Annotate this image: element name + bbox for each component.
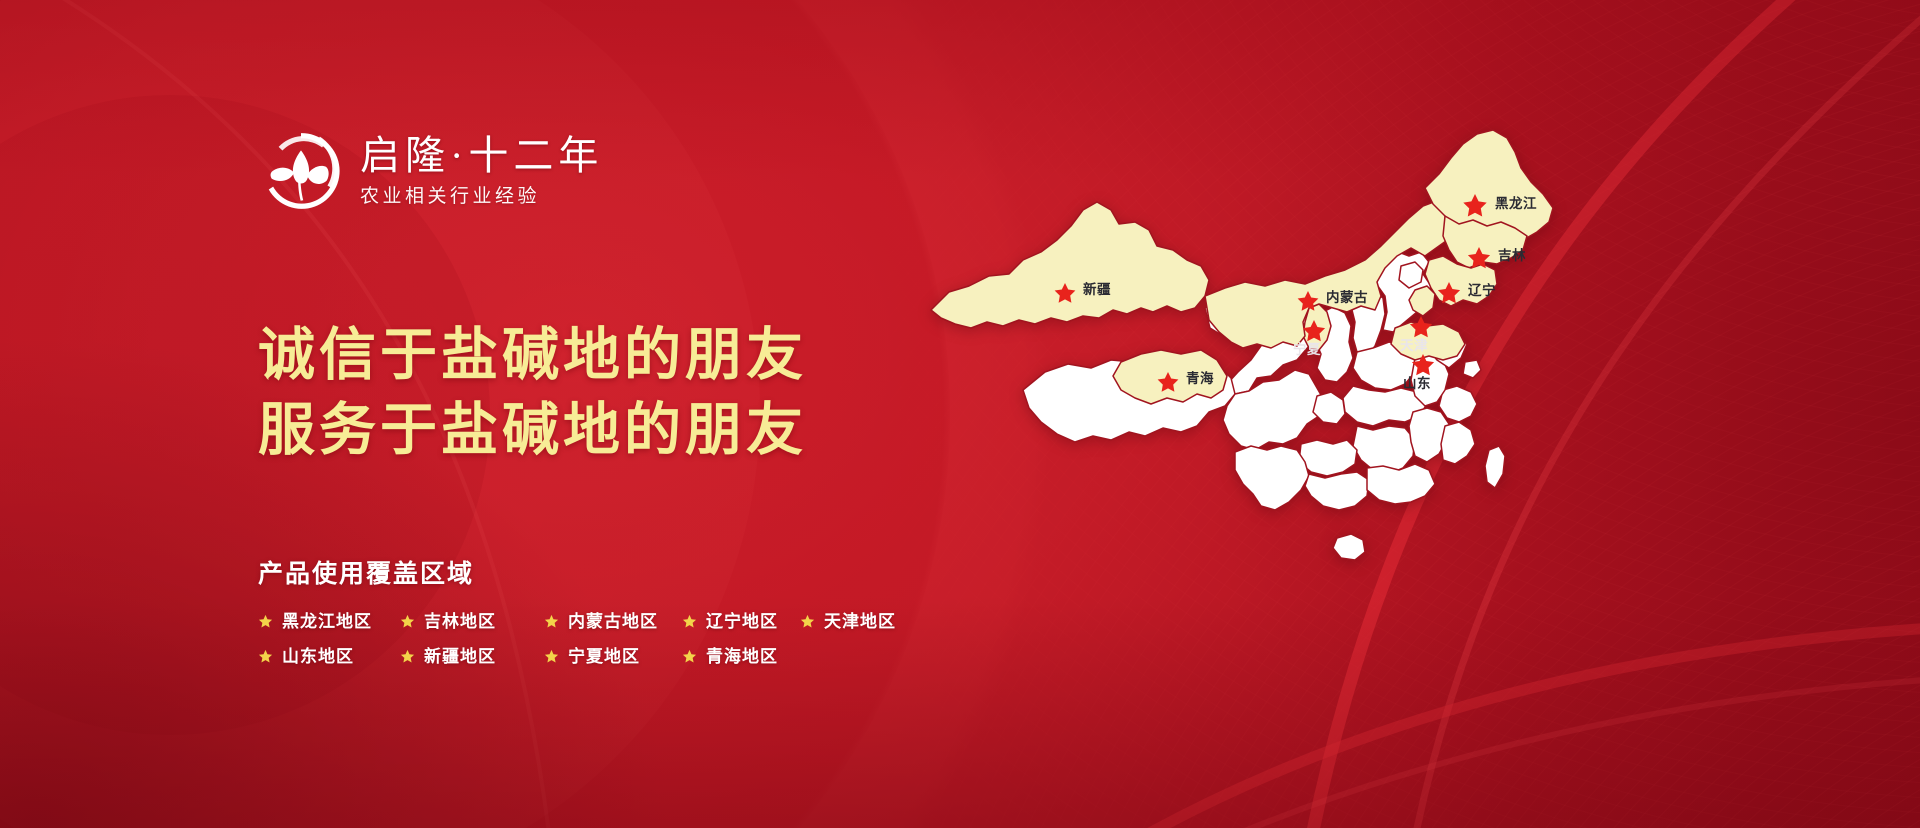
region-item[interactable]: 新疆地区 xyxy=(400,648,544,665)
region-item[interactable]: 内蒙古地区 xyxy=(544,613,682,630)
logo-block: 启隆·十二年 农业相关行业经验 xyxy=(258,128,603,214)
coverage-title: 产品使用覆盖区域 xyxy=(258,562,998,587)
region-label: 新疆地区 xyxy=(424,648,496,665)
map-label-jilin: 吉林 xyxy=(1498,247,1526,263)
map-label-xinjiang: 新疆 xyxy=(1083,281,1111,297)
region-label: 辽宁地区 xyxy=(706,613,778,630)
star-icon xyxy=(544,649,559,664)
star-icon xyxy=(800,614,815,629)
map-label-qinghai: 青海 xyxy=(1186,370,1214,386)
map-label-liaoning: 辽宁 xyxy=(1468,282,1496,298)
region-item[interactable]: 宁夏地区 xyxy=(544,648,682,665)
region-label: 青海地区 xyxy=(706,648,778,665)
region-label: 山东地区 xyxy=(282,648,354,665)
region-label: 天津地区 xyxy=(824,613,896,630)
map-label-ningxia: 宁夏 xyxy=(1293,341,1321,357)
map-highlighted-provinces xyxy=(931,130,1553,404)
map-label-tianjin: 天津 xyxy=(1400,337,1428,353)
brand-title: 启隆·十二年 xyxy=(360,136,603,176)
headline-line-2: 服务于盐碱地的朋友 xyxy=(258,393,807,468)
star-icon xyxy=(400,649,415,664)
headline-line-1: 诚信于盐碱地的朋友 xyxy=(258,318,807,393)
region-label: 吉林地区 xyxy=(424,613,496,630)
map-label-shandong: 山东 xyxy=(1403,375,1431,391)
star-icon xyxy=(544,614,559,629)
star-icon xyxy=(400,614,415,629)
region-item[interactable]: 青海地区 xyxy=(682,648,800,665)
region-item[interactable]: 吉林地区 xyxy=(400,613,544,630)
region-item[interactable]: 山东地区 xyxy=(258,648,400,665)
map-container: 新疆 青海 内蒙古 宁夏 黑龙江 xyxy=(905,60,1605,680)
star-icon xyxy=(258,649,273,664)
region-item[interactable]: 黑龙江地区 xyxy=(258,613,400,630)
region-item[interactable]: 辽宁地区 xyxy=(682,613,800,630)
region-label: 宁夏地区 xyxy=(568,648,640,665)
star-icon xyxy=(682,649,697,664)
coverage-region-list: 黑龙江地区吉林地区内蒙古地区辽宁地区天津地区山东地区新疆地区宁夏地区青海地区 xyxy=(258,613,998,665)
star-icon xyxy=(258,614,273,629)
coverage-section: 产品使用覆盖区域 黑龙江地区吉林地区内蒙古地区辽宁地区天津地区山东地区新疆地区宁… xyxy=(258,562,998,665)
headline-block: 诚信于盐碱地的朋友 服务于盐碱地的朋友 xyxy=(258,318,807,468)
promo-banner: 启隆·十二年 农业相关行业经验 诚信于盐碱地的朋友 服务于盐碱地的朋友 产品使用… xyxy=(0,0,1920,828)
star-icon xyxy=(682,614,697,629)
china-coverage-map: 新疆 青海 内蒙古 宁夏 黑龙江 xyxy=(905,60,1605,680)
map-label-heilongjiang: 黑龙江 xyxy=(1495,195,1537,211)
region-label: 内蒙古地区 xyxy=(568,613,658,630)
map-label-inner-mongolia: 内蒙古 xyxy=(1326,289,1368,305)
brand-subtitle: 农业相关行业经验 xyxy=(360,187,603,206)
logo-text-block: 启隆·十二年 农业相关行业经验 xyxy=(360,136,603,206)
qilong-leaf-circle-logo-icon xyxy=(258,128,344,214)
region-label: 黑龙江地区 xyxy=(282,613,372,630)
